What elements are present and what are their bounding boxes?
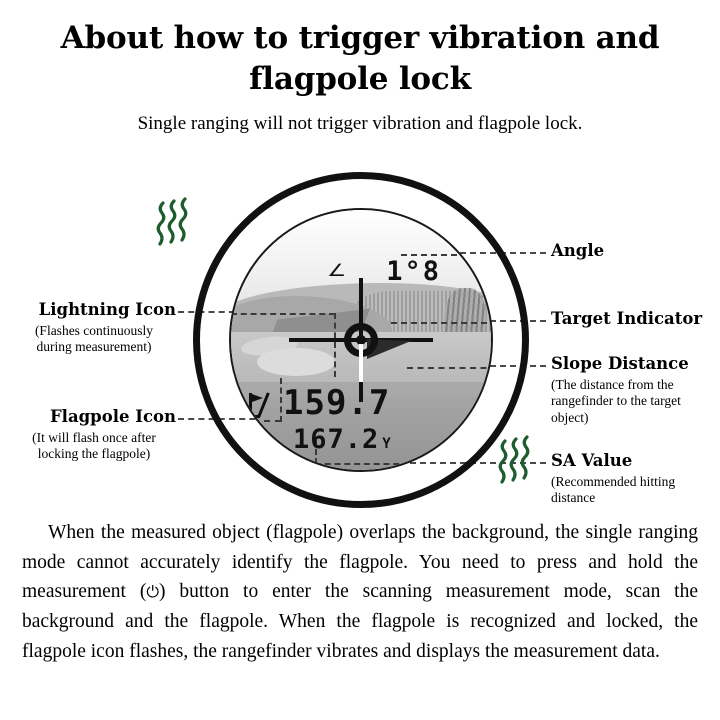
callout-lightning-note-line1: (Flashes continuously [12, 323, 176, 339]
callout-lightning-note: (Flashes continuously during measurement… [12, 323, 176, 356]
callout-slope-distance-note-line2: rangefinder to the target [551, 393, 719, 409]
callout-sa-value-note: (Recommended hitting distance [551, 474, 719, 507]
vibration-lines-top-left [152, 190, 198, 250]
rangefinder-optic: ∠ 1°8 159.7 167.2 Y [193, 172, 529, 508]
callout-slope-distance-note: (The distance from the rangefinder to th… [551, 377, 719, 426]
callout-flagpole-note: (It will flash once after locking the fl… [12, 430, 176, 463]
sa-value-number: 167.2 [293, 426, 379, 453]
angle-icon: ∠ [327, 263, 346, 280]
angle-value: 1°8 [386, 258, 441, 285]
angle-readout: ∠ 1°8 [259, 258, 467, 285]
body-paragraph: When the measured object (flagpole) over… [22, 518, 698, 666]
callout-lightning-note-line2: during measurement) [12, 339, 176, 355]
callout-flagpole-title: Flagpole Icon [12, 407, 176, 427]
callout-target-indicator: Target Indicator [551, 309, 719, 329]
lcd-overlay: ∠ 1°8 159.7 167.2 Y [231, 210, 491, 470]
callout-sa-value-note-line2: distance [551, 490, 719, 506]
callout-lightning-icon: Lightning Icon (Flashes continuously dur… [12, 300, 176, 356]
callout-slope-distance-note-line1: (The distance from the [551, 377, 719, 393]
callout-flagpole-note-line2: locking the flagpole) [12, 446, 176, 462]
slope-distance-value: 159.7 [283, 386, 390, 420]
callout-slope-distance-title: Slope Distance [551, 354, 719, 374]
flag-slash-icon [247, 392, 273, 418]
callout-flagpole-note-line1: (It will flash once after [12, 430, 176, 446]
callout-sa-value-note-line1: (Recommended hitting [551, 474, 719, 490]
slope-distance-readout: 159.7 [247, 386, 493, 420]
sa-value-unit: Y [382, 437, 390, 451]
callout-sa-value: SA Value (Recommended hitting distance [551, 451, 719, 507]
sa-value-readout: 167.2 Y [293, 426, 493, 453]
page-title: About how to trigger vibration and flagp… [0, 18, 720, 100]
vibration-lines-bottom-right [494, 428, 540, 488]
callout-target-indicator-title: Target Indicator [551, 309, 719, 329]
callout-slope-distance-note-line3: object) [551, 410, 719, 426]
callout-lightning-title: Lightning Icon [12, 300, 176, 320]
callout-angle-title: Angle [551, 241, 716, 261]
page-root: About how to trigger vibration and flagp… [0, 0, 720, 720]
power-icon: ⏻ [146, 582, 159, 601]
lens-inner-ring: ∠ 1°8 159.7 167.2 Y [229, 208, 493, 472]
page-subtitle: Single ranging will not trigger vibratio… [0, 113, 720, 135]
callout-slope-distance: Slope Distance (The distance from the ra… [551, 354, 719, 426]
callout-angle: Angle [551, 241, 716, 261]
callout-sa-value-title: SA Value [551, 451, 719, 471]
callout-flagpole-icon: Flagpole Icon (It will flash once after … [12, 407, 176, 463]
